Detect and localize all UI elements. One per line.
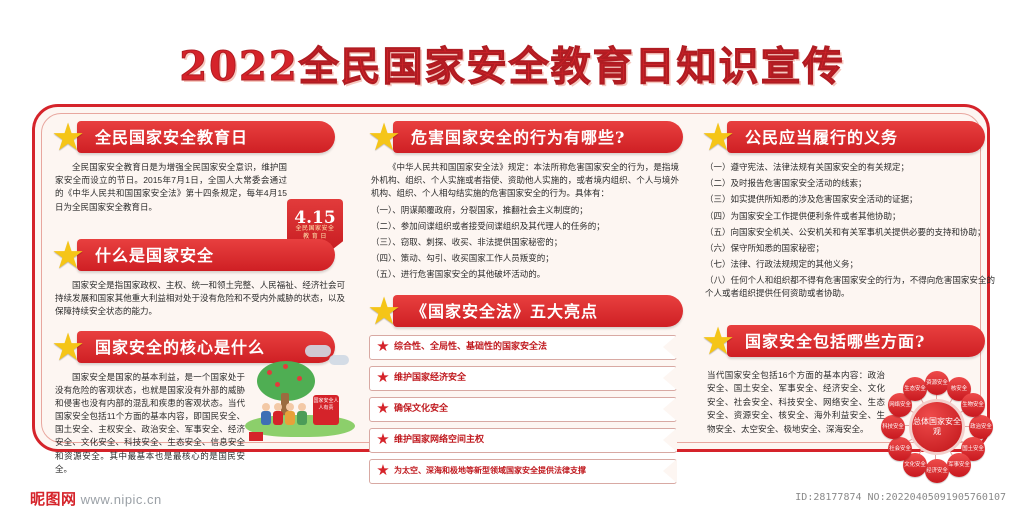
section-title: 《国家安全法》五大亮点 <box>411 299 677 325</box>
section-title: 国家安全包括哪些方面? <box>745 329 993 355</box>
diagram-node: 经济安全 <box>925 459 949 483</box>
security-radial-diagram: 总体国家安全观 政治安全 国土安全 军事安全 经济安全 文化安全 社会安全 科技… <box>881 371 993 483</box>
person-figure <box>285 403 295 425</box>
section-body-education-day: 全民国家安全教育日是为增强全民国家安全意识，维护国家安全而设立的节日。2015年… <box>49 161 349 227</box>
section-header-harmful-acts: ★ 危害国家安全的行为有哪些? <box>365 121 683 155</box>
diagram-node: 社会安全 <box>888 437 912 461</box>
diagram-node: 军事安全 <box>947 453 971 477</box>
watermark: 昵图网 www.nipic.cn <box>30 488 162 509</box>
section-body-harmful-acts: 《中华人民共和国国家安全法》规定：本法所称危害国家安全的行为，是指境外机构、组织… <box>365 161 683 281</box>
section-body-aspects: 当代国家安全包括16个方面的基本内容：政治安全、国土安全、军事安全、经济安全、文… <box>707 369 885 437</box>
star-icon: ★ <box>49 237 87 275</box>
section-header-citizen-duties: ★ 公民应当履行的义务 <box>699 121 999 155</box>
fruit-icon <box>283 364 288 369</box>
list-item-label: 维护国家网络空间主权 <box>394 429 660 450</box>
diagram-center-label: 总体国家安全观 <box>912 402 962 452</box>
section-title: 危害国家安全的行为有哪些? <box>411 125 677 151</box>
star-icon: ★ <box>699 119 737 157</box>
list-item: ★ 维护国家网络空间主权 <box>369 428 677 453</box>
star-icon: ★ <box>699 323 737 361</box>
section-title: 什么是国家安全 <box>95 243 343 269</box>
fruit-icon <box>267 370 272 375</box>
star-icon: ★ <box>375 432 391 448</box>
section-header-education-day: ★ 全民国家安全教育日 <box>49 121 349 155</box>
list-item-label: 确保文化安全 <box>394 398 660 419</box>
list-item: ★ 确保文化安全 <box>369 397 677 422</box>
person-figure <box>297 403 307 425</box>
diagram-node: 生态安全 <box>903 377 927 401</box>
star-icon: ★ <box>375 370 391 386</box>
flag-icon <box>249 432 263 441</box>
content-frame: ★ 全民国家安全教育日 全民国家安全教育日是为增强全民国家安全意识，维护国家安全… <box>32 104 990 452</box>
diagram-node: 科技安全 <box>881 415 905 439</box>
list-item-label: 维护国家经济安全 <box>394 367 660 388</box>
diagram-node: 生物安全 <box>961 393 985 417</box>
section-body-citizen-duties: （一）遵守宪法、法律法规有关国家安全的有关规定； （二）及时报告危害国家安全活动… <box>699 161 999 301</box>
section-header-five-highlights: ★ 《国家安全法》五大亮点 <box>365 295 683 329</box>
watermark-brand: 昵图网 <box>30 491 77 508</box>
highlights-list: ★ 综合性、全局性、基础性的国家安全法 ★ 维护国家经济安全 ★ 确保文化安全 … <box>365 335 683 484</box>
star-icon: ★ <box>49 119 87 157</box>
list-item: ★ 为太空、深海和极地等新型领域国家安全提供法律支撑 <box>369 459 677 484</box>
tree-people-illustration: 国家安全人人有责 <box>245 343 355 443</box>
star-icon: ★ <box>49 329 87 367</box>
diagram-node: 资源安全 <box>925 371 949 395</box>
poster-board: 2022全民国家安全教育日知识宣传 ★ 全民国家安全教育日 全民国家安全教育日是… <box>0 0 1024 486</box>
star-icon: ★ <box>365 293 403 331</box>
person-figure <box>261 403 271 425</box>
aspects-content: 当代国家安全包括16个方面的基本内容：政治安全、国土安全、军事安全、经济安全、文… <box>699 365 999 495</box>
star-icon: ★ <box>375 339 391 355</box>
list-item: ★ 维护国家经济安全 <box>369 366 677 391</box>
column-1: ★ 全民国家安全教育日 全民国家安全教育日是为增强全民国家安全意识，维护国家安全… <box>49 121 349 479</box>
star-icon: ★ <box>375 463 391 479</box>
list-item-label: 综合性、全局性、基础性的国家安全法 <box>394 336 660 357</box>
section-body-what-is: 国家安全是指国家政权、主权、统一和领土完整、人民福祉、经济社会可持续发展和国家其… <box>49 279 349 319</box>
star-icon: ★ <box>365 119 403 157</box>
section-header-aspects: ★ 国家安全包括哪些方面? <box>699 325 999 359</box>
column-2: ★ 危害国家安全的行为有哪些? 《中华人民共和国国家安全法》规定：本法所称危害国… <box>365 121 683 490</box>
cloud-icon <box>305 345 331 357</box>
person-figure <box>273 403 283 425</box>
diagram-node: 政治安全 <box>969 415 993 439</box>
watermark-url: www.nipic.cn <box>81 492 162 507</box>
star-icon: ★ <box>375 401 391 417</box>
footer-bar: 昵图网 www.nipic.cn ID:28177874 NO:20220405… <box>0 486 1024 512</box>
fruit-icon <box>275 382 280 387</box>
list-item-label: 为太空、深海和极地等新型领域国家安全提供法律支撑 <box>394 460 660 481</box>
slogan-sign: 国家安全人人有责 <box>313 395 339 425</box>
section-header-what-is: ★ 什么是国家安全 <box>49 239 349 273</box>
section-title: 公民应当履行的义务 <box>745 125 993 151</box>
file-id-label: ID:28177874 NO:20220405091905760107 <box>795 492 1006 503</box>
section-title: 全民国家安全教育日 <box>95 125 343 151</box>
section-body-core: 国家安全是国家的基本利益，是一个国家处于没有危险的客观状态，也就是国家没有外部的… <box>49 371 249 476</box>
column-3: ★ 公民应当履行的义务 （一）遵守宪法、法律法规有关国家安全的有关规定； （二）… <box>699 121 999 495</box>
fruit-icon <box>297 376 302 381</box>
page-title: 2022全民国家安全教育日知识宣传 <box>0 34 1024 92</box>
list-item: ★ 综合性、全局性、基础性的国家安全法 <box>369 335 677 360</box>
cloud-icon <box>329 355 349 365</box>
